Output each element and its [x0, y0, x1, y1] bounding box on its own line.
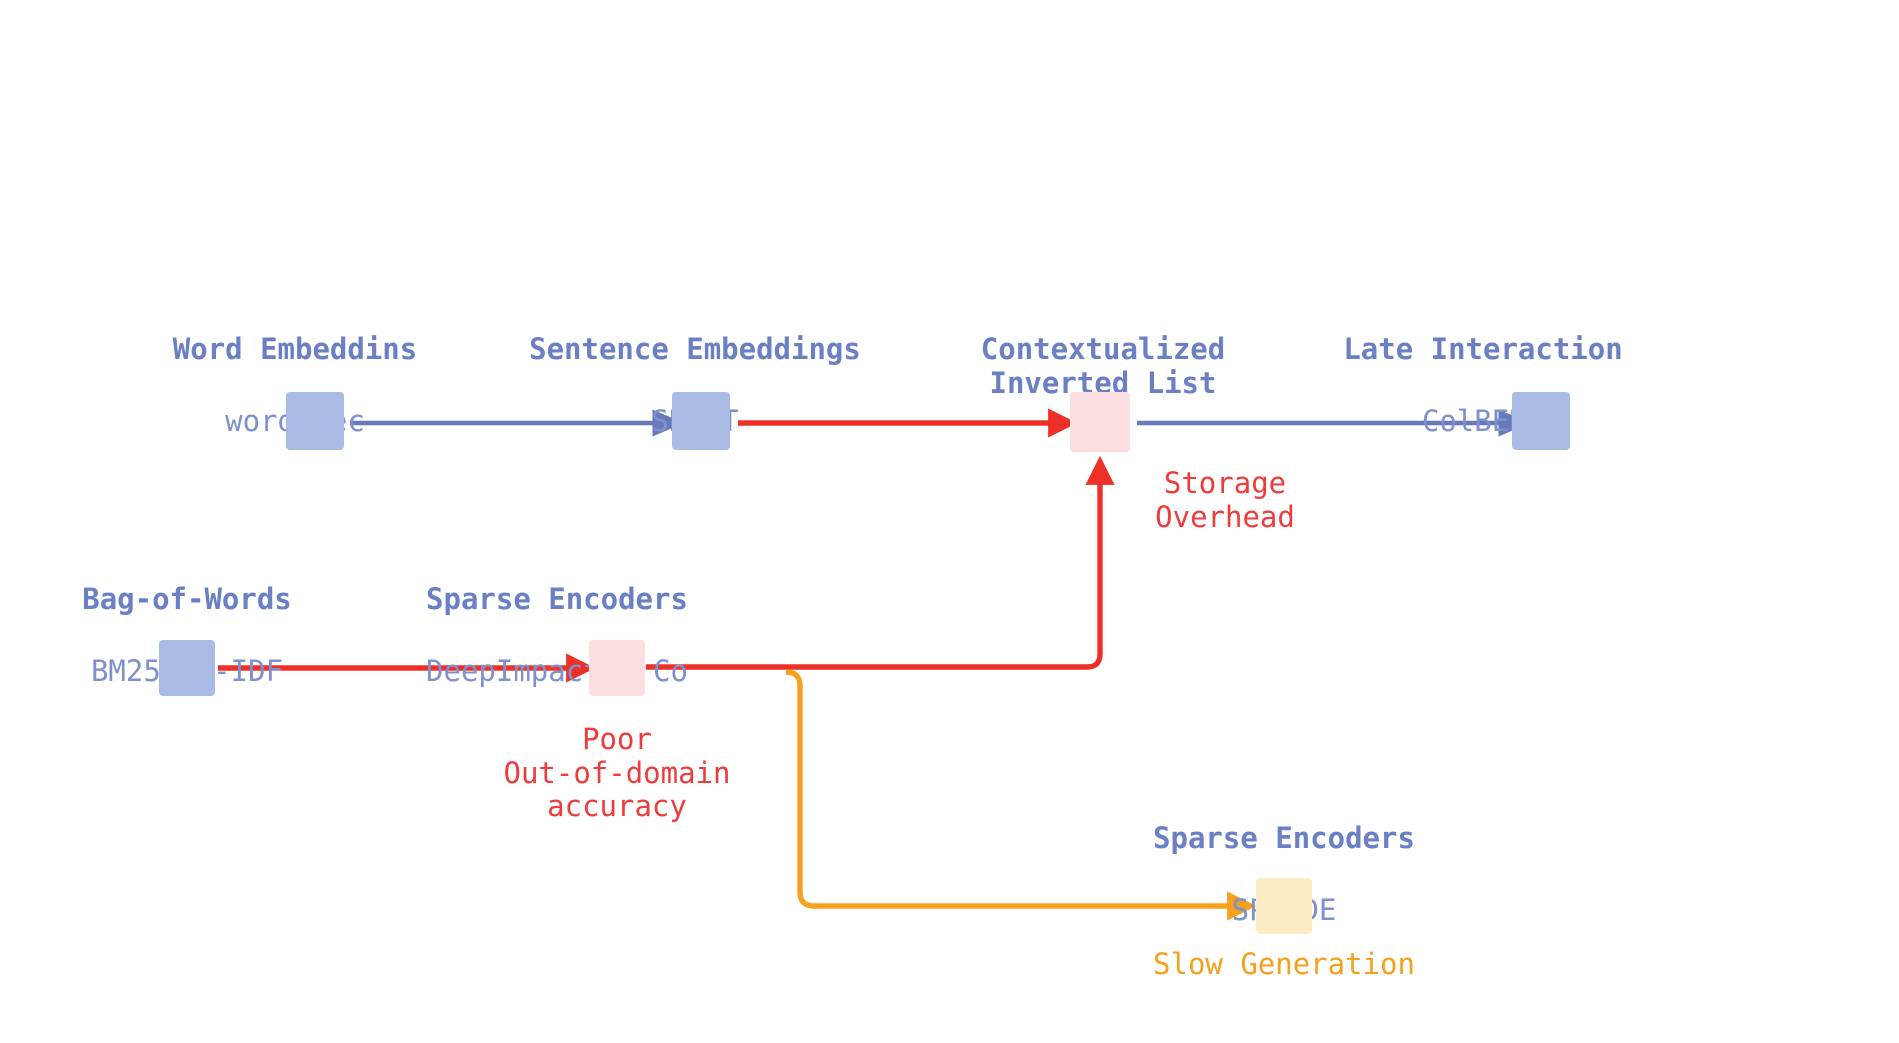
node-sparse-encoders-splade-title: Sparse Encoders [1084, 821, 1484, 855]
node-late-interaction-title: Late Interaction [1283, 332, 1683, 366]
diagram-canvas: Word Embeddins word2vec Sentence Embeddi… [0, 0, 1899, 1043]
node-late-interaction-label: Late Interaction ColBERT [1283, 294, 1683, 476]
annotation-slow-generation: Slow Generation [1084, 948, 1484, 982]
node-late-interaction-subtitle: ColBERT [1283, 404, 1683, 438]
node-contextualized-inverted-list-box[interactable] [1070, 392, 1130, 452]
node-late-interaction-box[interactable] [1512, 392, 1570, 450]
annotation-poor-out-of-domain-accuracy: Poor Out-of-domain accuracy [467, 723, 767, 824]
node-word-embeddings-box[interactable] [286, 392, 344, 450]
node-sparse-encoders-deepimpact-label: Sparse Encoders DeepImpact & Co [357, 544, 757, 726]
node-sparse-encoders-deepimpact-title: Sparse Encoders [357, 582, 757, 616]
node-sparse-encoders-deepimpact-box[interactable] [589, 640, 645, 696]
node-bag-of-words-box[interactable] [159, 640, 215, 696]
edge-layer [0, 0, 1899, 1043]
node-sparse-encoders-splade-box[interactable] [1256, 878, 1312, 934]
node-sentence-embeddings-box[interactable] [672, 392, 730, 450]
node-sparse-encoders-splade-label: Sparse Encoders SPLADE [1084, 783, 1484, 965]
node-sparse-encoders-deepimpact-subtitle: DeepImpact & Co [357, 654, 757, 688]
annotation-storage-overhead: Storage Overhead [1080, 467, 1370, 534]
